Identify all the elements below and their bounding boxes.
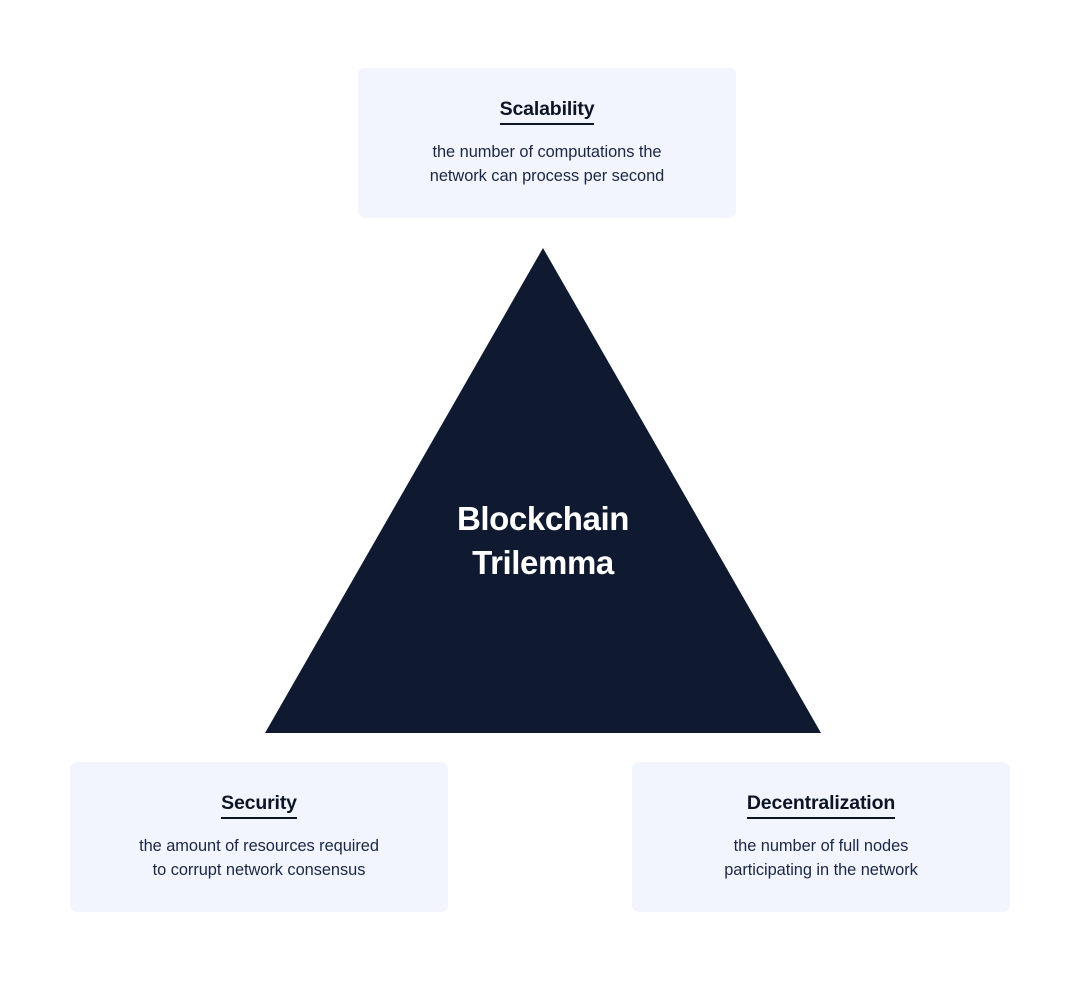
vertex-card-title: Decentralization xyxy=(747,792,895,819)
vertex-card-security: Security the amount of resources require… xyxy=(70,762,448,912)
vertex-card-title: Scalability xyxy=(500,98,595,125)
vertex-card-scalability: Scalability the number of computations t… xyxy=(358,68,736,218)
vertex-card-decentralization: Decentralization the number of full node… xyxy=(632,762,1010,912)
vertex-card-description: the number of computations the network c… xyxy=(430,141,664,189)
vertex-card-description: the number of full nodes participating i… xyxy=(724,835,918,883)
vertex-card-title: Security xyxy=(221,792,297,819)
trilemma-diagram: Scalability the number of computations t… xyxy=(0,0,1080,982)
triangle-shape: Blockchain Trilemma xyxy=(265,248,821,733)
vertex-card-description: the amount of resources required to corr… xyxy=(139,835,379,883)
triangle-icon xyxy=(265,248,821,733)
